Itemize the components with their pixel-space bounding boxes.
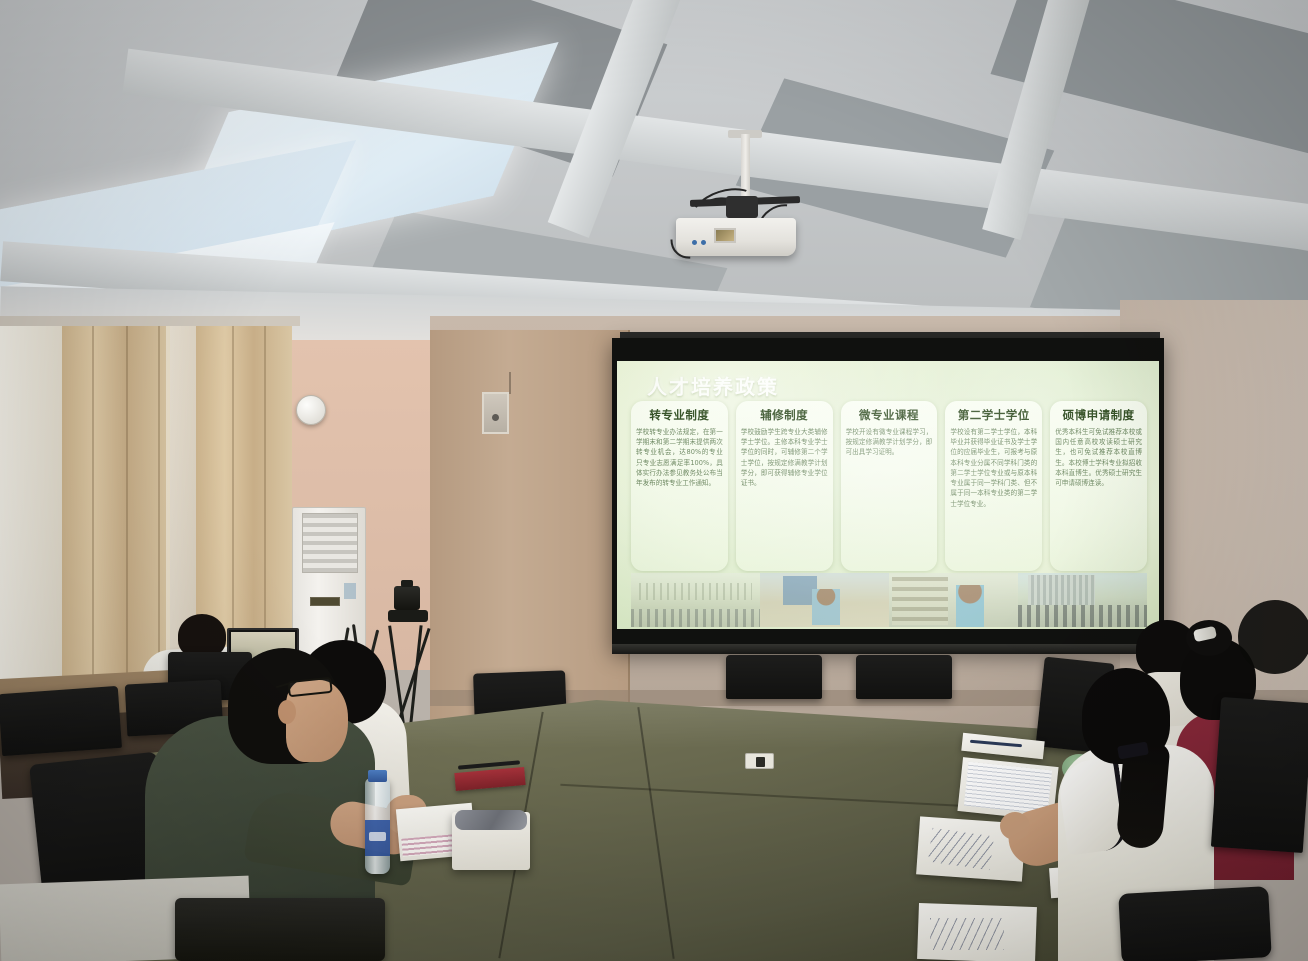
notebook-lines xyxy=(964,762,1052,815)
conference-chair xyxy=(175,898,385,961)
slide-card: 第二学士学位 学校设有第二学士学位，本科毕业并获得毕业证书及学士学位的应届毕业生… xyxy=(945,401,1042,571)
bottle-label xyxy=(365,820,390,856)
projector-mount-bracket xyxy=(726,196,758,218)
slide-card-body: 学校开设有微专业课程学习，按规定修满教学计划学分，即可出具学习证明。 xyxy=(846,427,933,458)
conference-room-photo: 人才培养政策 转专业制度 学校转专业办法规定，在第一学期末和第二学期末提供两次转… xyxy=(0,0,1308,961)
slide-card-body: 学校设有第二学士学位，本科毕业并获得毕业证书及学士学位的应届毕业生，可报考与原本… xyxy=(950,427,1037,509)
lecture-hall-photo xyxy=(631,573,760,627)
foreground-blur-object xyxy=(1238,600,1308,674)
air-conditioner-label xyxy=(344,583,356,599)
screen-bottom-bar xyxy=(612,644,1164,654)
library-shelves-photo xyxy=(889,573,1018,627)
slide-title: 人才培养政策 xyxy=(647,371,779,400)
slide-card-heading: 硕博申请制度 xyxy=(1055,407,1142,423)
slide-card-heading: 辅修制度 xyxy=(741,407,828,423)
person-ear xyxy=(278,700,296,724)
graduation-group-photo xyxy=(1018,573,1147,627)
conference-chair xyxy=(0,686,122,756)
projection-screen: 人才培养政策 转专业制度 学校转专业办法规定，在第一学期末和第二学期末提供两次转… xyxy=(612,338,1164,650)
student-studying-photo xyxy=(760,573,889,627)
curtain-rail xyxy=(0,316,300,326)
wall-speaker-icon xyxy=(482,392,509,434)
tripod-head xyxy=(388,610,428,622)
conference-chair xyxy=(856,655,952,699)
air-conditioner-display xyxy=(310,597,340,606)
bottle-cap xyxy=(368,770,387,782)
slide-card-body: 学校鼓励学生跨专业大类辅修学士学位。主修本科专业学士学位的同时，可辅修第二个学士… xyxy=(741,427,828,488)
slide-card-heading: 转专业制度 xyxy=(636,407,723,423)
video-camera xyxy=(394,586,420,610)
table-cable-port xyxy=(745,753,774,769)
speaker-wire xyxy=(509,372,511,394)
conference-chair xyxy=(1118,886,1272,961)
curtain-fold xyxy=(126,318,128,726)
sheer-curtain xyxy=(0,318,70,726)
projector-lens-icon xyxy=(714,228,736,243)
slide-card: 微专业课程 学校开设有微专业课程学习，按规定修满教学计划学分，即可出具学习证明。 xyxy=(841,401,938,571)
person-hand xyxy=(1000,812,1030,840)
conference-chair xyxy=(726,655,822,699)
slide-photo-strip xyxy=(631,573,1147,627)
slide-card-heading: 第二学士学位 xyxy=(950,407,1037,423)
air-conditioner-vent xyxy=(302,513,358,573)
slide-card: 硕博申请制度 优秀本科生可免试推荐本校或国内任意高校攻读硕士研究生，也可免试推荐… xyxy=(1050,401,1147,571)
presentation-slide: 人才培养政策 转专业制度 学校转专业办法规定，在第一学期末和第二学期末提供两次转… xyxy=(617,361,1159,629)
wood-wall-panel xyxy=(430,330,630,730)
slide-card: 辅修制度 学校鼓励学生跨专业大类辅修学士学位。主修本科专业学士学位的同时，可辅修… xyxy=(736,401,833,571)
ceiling-speaker-icon xyxy=(296,395,326,425)
slide-card: 转专业制度 学校转专业办法规定，在第一学期末和第二学期末提供两次转专业机会，达8… xyxy=(631,401,728,571)
slide-card-body: 优秀本科生可免试推荐本校或国内任意高校攻读硕士研究生，也可免试推荐本校直博生。本… xyxy=(1055,427,1142,488)
cloth-on-tissue-box xyxy=(455,810,527,830)
slide-card-body: 学校转专业办法规定，在第一学期末和第二学期末提供两次转专业机会，达80%的专业只… xyxy=(636,427,723,488)
conference-chair xyxy=(1211,697,1308,853)
slide-card-heading: 微专业课程 xyxy=(846,407,933,423)
notebook-handwriting xyxy=(930,918,1004,950)
slide-card-row: 转专业制度 学校转专业办法规定，在第一学期末和第二学期末提供两次转专业机会，达8… xyxy=(631,401,1147,571)
curtain-fold xyxy=(92,318,94,726)
